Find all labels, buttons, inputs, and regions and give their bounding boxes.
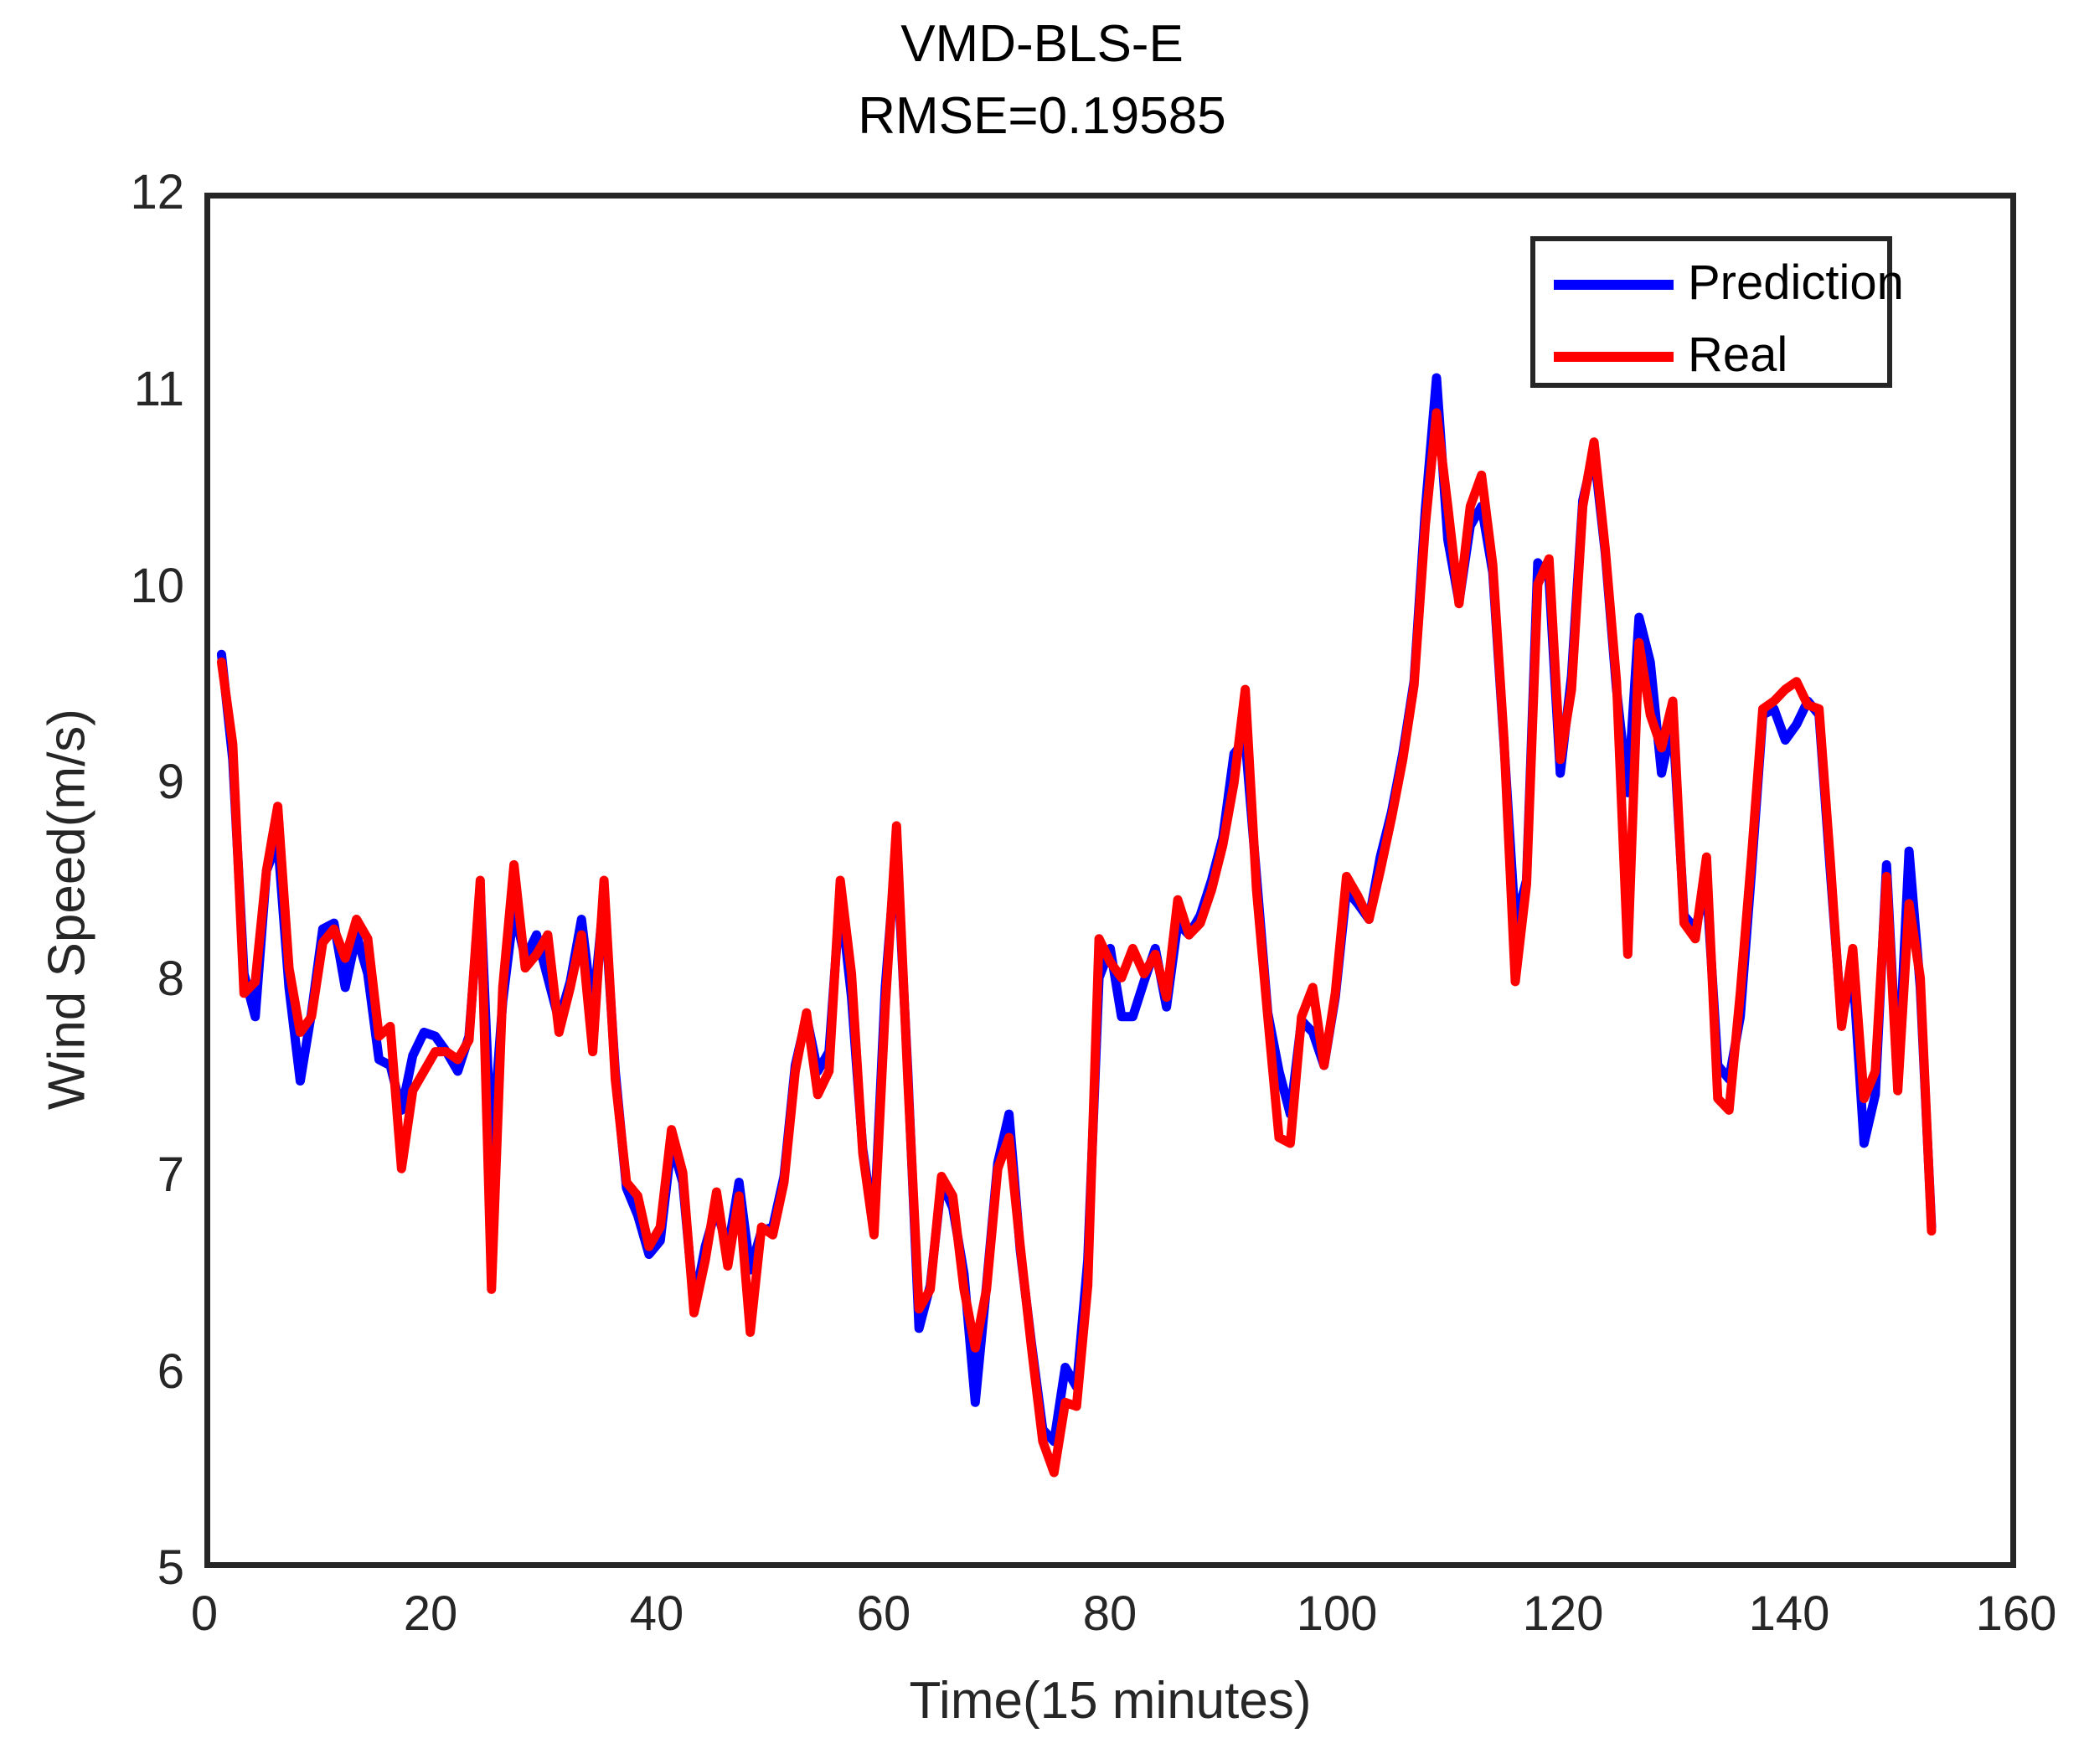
plot-area: [204, 193, 2016, 1568]
x-tick-label-100: 100: [1253, 1590, 1421, 1638]
x-tick-label-60: 60: [800, 1590, 967, 1638]
y-tick-label-6: 6: [17, 1348, 184, 1396]
legend[interactable]: Prediction Real: [1530, 236, 1892, 388]
x-tick-label-160: 160: [1932, 1590, 2084, 1638]
y-tick-label-12: 12: [17, 168, 184, 217]
series-canvas: [210, 199, 2010, 1562]
legend-entry-real[interactable]: Real: [1535, 332, 1897, 382]
legend-swatch-real: [1554, 352, 1674, 362]
x-tick-label-0: 0: [121, 1590, 288, 1638]
x-tick-label-140: 140: [1705, 1590, 1873, 1638]
chart-figure: VMD-BLS-E RMSE=0.19585 12 11 10 9 8 7 6 …: [0, 0, 2084, 1764]
y-axis-label-wrapper: Wind Speed(m/s): [0, 0, 1, 1]
plot-clip: [210, 199, 2010, 1562]
legend-swatch-prediction: [1554, 280, 1674, 290]
x-axis-label: Time(15 minutes): [204, 1671, 2016, 1730]
chart-title: VMD-BLS-E: [0, 8, 2084, 80]
x-tick-label-80: 80: [1026, 1590, 1194, 1638]
chart-subtitle-rmse: RMSE=0.19585: [0, 80, 2084, 152]
legend-entry-prediction[interactable]: Prediction: [1535, 260, 1897, 310]
legend-label-prediction: Prediction: [1688, 253, 1904, 313]
y-axis-label: Wind Speed(m/s): [38, 575, 97, 1245]
legend-label-real: Real: [1688, 325, 1787, 385]
y-tick-label-5: 5: [17, 1544, 184, 1592]
x-tick-label-20: 20: [347, 1590, 514, 1638]
y-tick-label-11: 11: [17, 365, 184, 414]
series-line-real: [221, 413, 1932, 1473]
chart-title-block: VMD-BLS-E RMSE=0.19585: [0, 8, 2084, 152]
x-tick-label-40: 40: [573, 1590, 740, 1638]
x-tick-label-120: 120: [1479, 1590, 1647, 1638]
